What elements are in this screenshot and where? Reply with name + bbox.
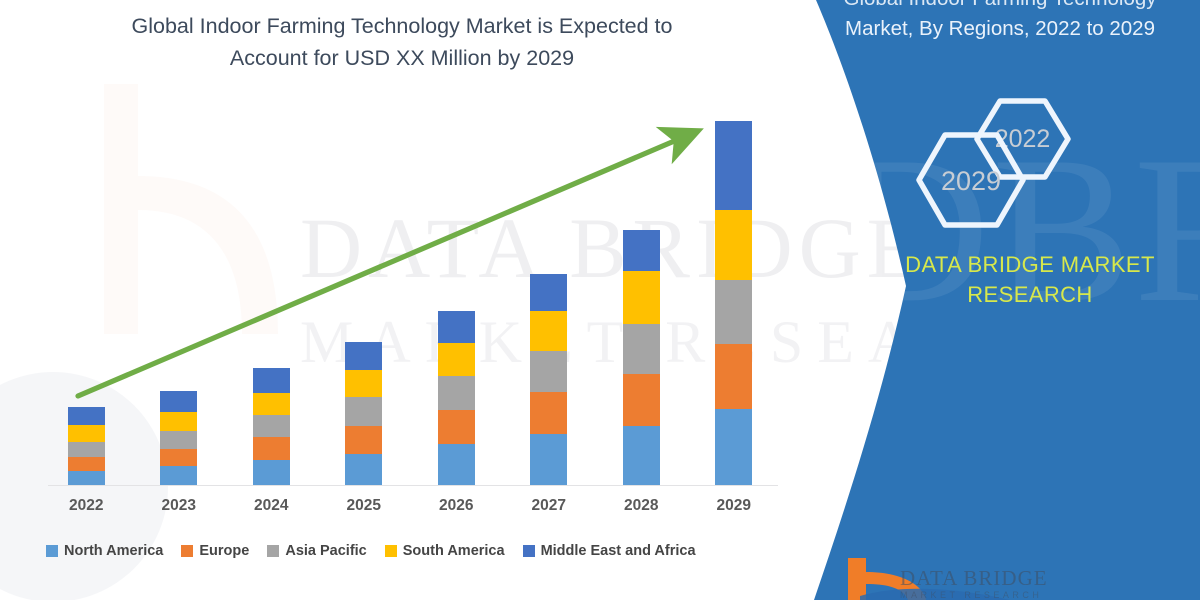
logo-wordmark: DATA BRIDGE [900,566,1048,591]
bar-2025 [345,342,382,485]
bar-segment [253,460,290,485]
bar-segment [530,274,567,311]
stacked-bar-chart: 20222023202420252026202720282029 North A… [0,0,810,600]
infographic-root: DATA BRIDGE MARKET RESEARCH Global Indoo… [0,0,1200,600]
hexagon-badges: 2022 2029 [905,95,1135,230]
x-label-2022: 2022 [51,497,121,515]
bar-segment [345,397,382,425]
brand-name-line1: DATA BRIDGE MARKET [880,250,1180,280]
legend-item-middle-east-and-africa[interactable]: Middle East and Africa [523,543,696,559]
bar-segment [623,374,660,426]
bar-segment [345,426,382,454]
bar-segment [68,457,105,472]
bar-segment [345,342,382,370]
chart-legend: North AmericaEuropeAsia PacificSouth Ame… [46,538,786,564]
x-axis-line [48,485,778,486]
bar-segment [623,230,660,272]
bar-segment [68,407,105,425]
bar-segment [530,434,567,485]
bar-segment [715,280,752,345]
bar-segment [715,344,752,409]
bar-2028 [623,230,660,485]
bar-2027 [530,274,567,485]
bar-segment [68,425,105,443]
bar-segment [530,311,567,351]
bar-segment [438,343,475,375]
x-label-2025: 2025 [329,497,399,515]
legend-swatch-icon [385,545,397,557]
x-label-2026: 2026 [421,497,491,515]
hexagon-2029-label: 2029 [941,166,1001,196]
brand-name-line2: RESEARCH [880,280,1180,310]
bar-segment [160,431,197,449]
legend-item-europe[interactable]: Europe [181,543,249,559]
legend-label: Middle East and Africa [541,543,696,559]
legend-label: Europe [199,543,249,559]
legend-label: Asia Pacific [285,543,366,559]
legend-swatch-icon [181,545,193,557]
legend-item-south-america[interactable]: South America [385,543,505,559]
legend-swatch-icon [523,545,535,557]
bar-segment [68,442,105,457]
legend-swatch-icon [267,545,279,557]
bar-segment [253,437,290,460]
bar-segment [160,391,197,412]
legend-swatch-icon [46,545,58,557]
bar-segment [160,412,197,431]
bar-segment [68,471,105,485]
bar-segment [530,392,567,434]
legend-item-asia-pacific[interactable]: Asia Pacific [267,543,366,559]
bar-2024 [253,368,290,485]
logo-tagline: MARKET RESEARCH [900,590,1042,600]
legend-label: North America [64,543,163,559]
bar-segment [438,444,475,485]
x-label-2028: 2028 [606,497,676,515]
x-label-2027: 2027 [514,497,584,515]
bar-segment [715,210,752,280]
x-label-2029: 2029 [699,497,769,515]
bar-segment [623,271,660,323]
panel-heading-line2: Market, By Regions, 2022 to 2029 [800,14,1200,44]
bar-segment [253,415,290,437]
panel-heading-line1: Global Indoor Farming Technology [800,0,1200,14]
bar-segment [253,368,290,393]
x-label-2023: 2023 [144,497,214,515]
bar-segment [345,370,382,397]
bar-segment [623,426,660,485]
bar-2022 [68,407,105,485]
bar-segment [438,410,475,444]
bar-2029 [715,121,752,485]
bar-segment [160,466,197,485]
x-label-2024: 2024 [236,497,306,515]
bar-2026 [438,311,475,485]
brand-name: DATA BRIDGE MARKET RESEARCH [880,250,1180,310]
x-axis-labels: 20222023202420252026202720282029 [40,497,780,525]
bar-segment [715,121,752,210]
bar-segment [438,376,475,410]
bar-segment [345,454,382,485]
legend-label: South America [403,543,505,559]
bar-segment [623,324,660,374]
bar-segment [253,393,290,415]
panel-heading: Global Indoor Farming Technology Market,… [800,0,1200,44]
bar-segment [530,351,567,393]
legend-item-north-america[interactable]: North America [46,543,163,559]
bar-segment [438,311,475,343]
bar-segment [715,409,752,485]
bar-2023 [160,391,197,485]
plot-area [40,110,780,485]
bar-segment [160,449,197,467]
